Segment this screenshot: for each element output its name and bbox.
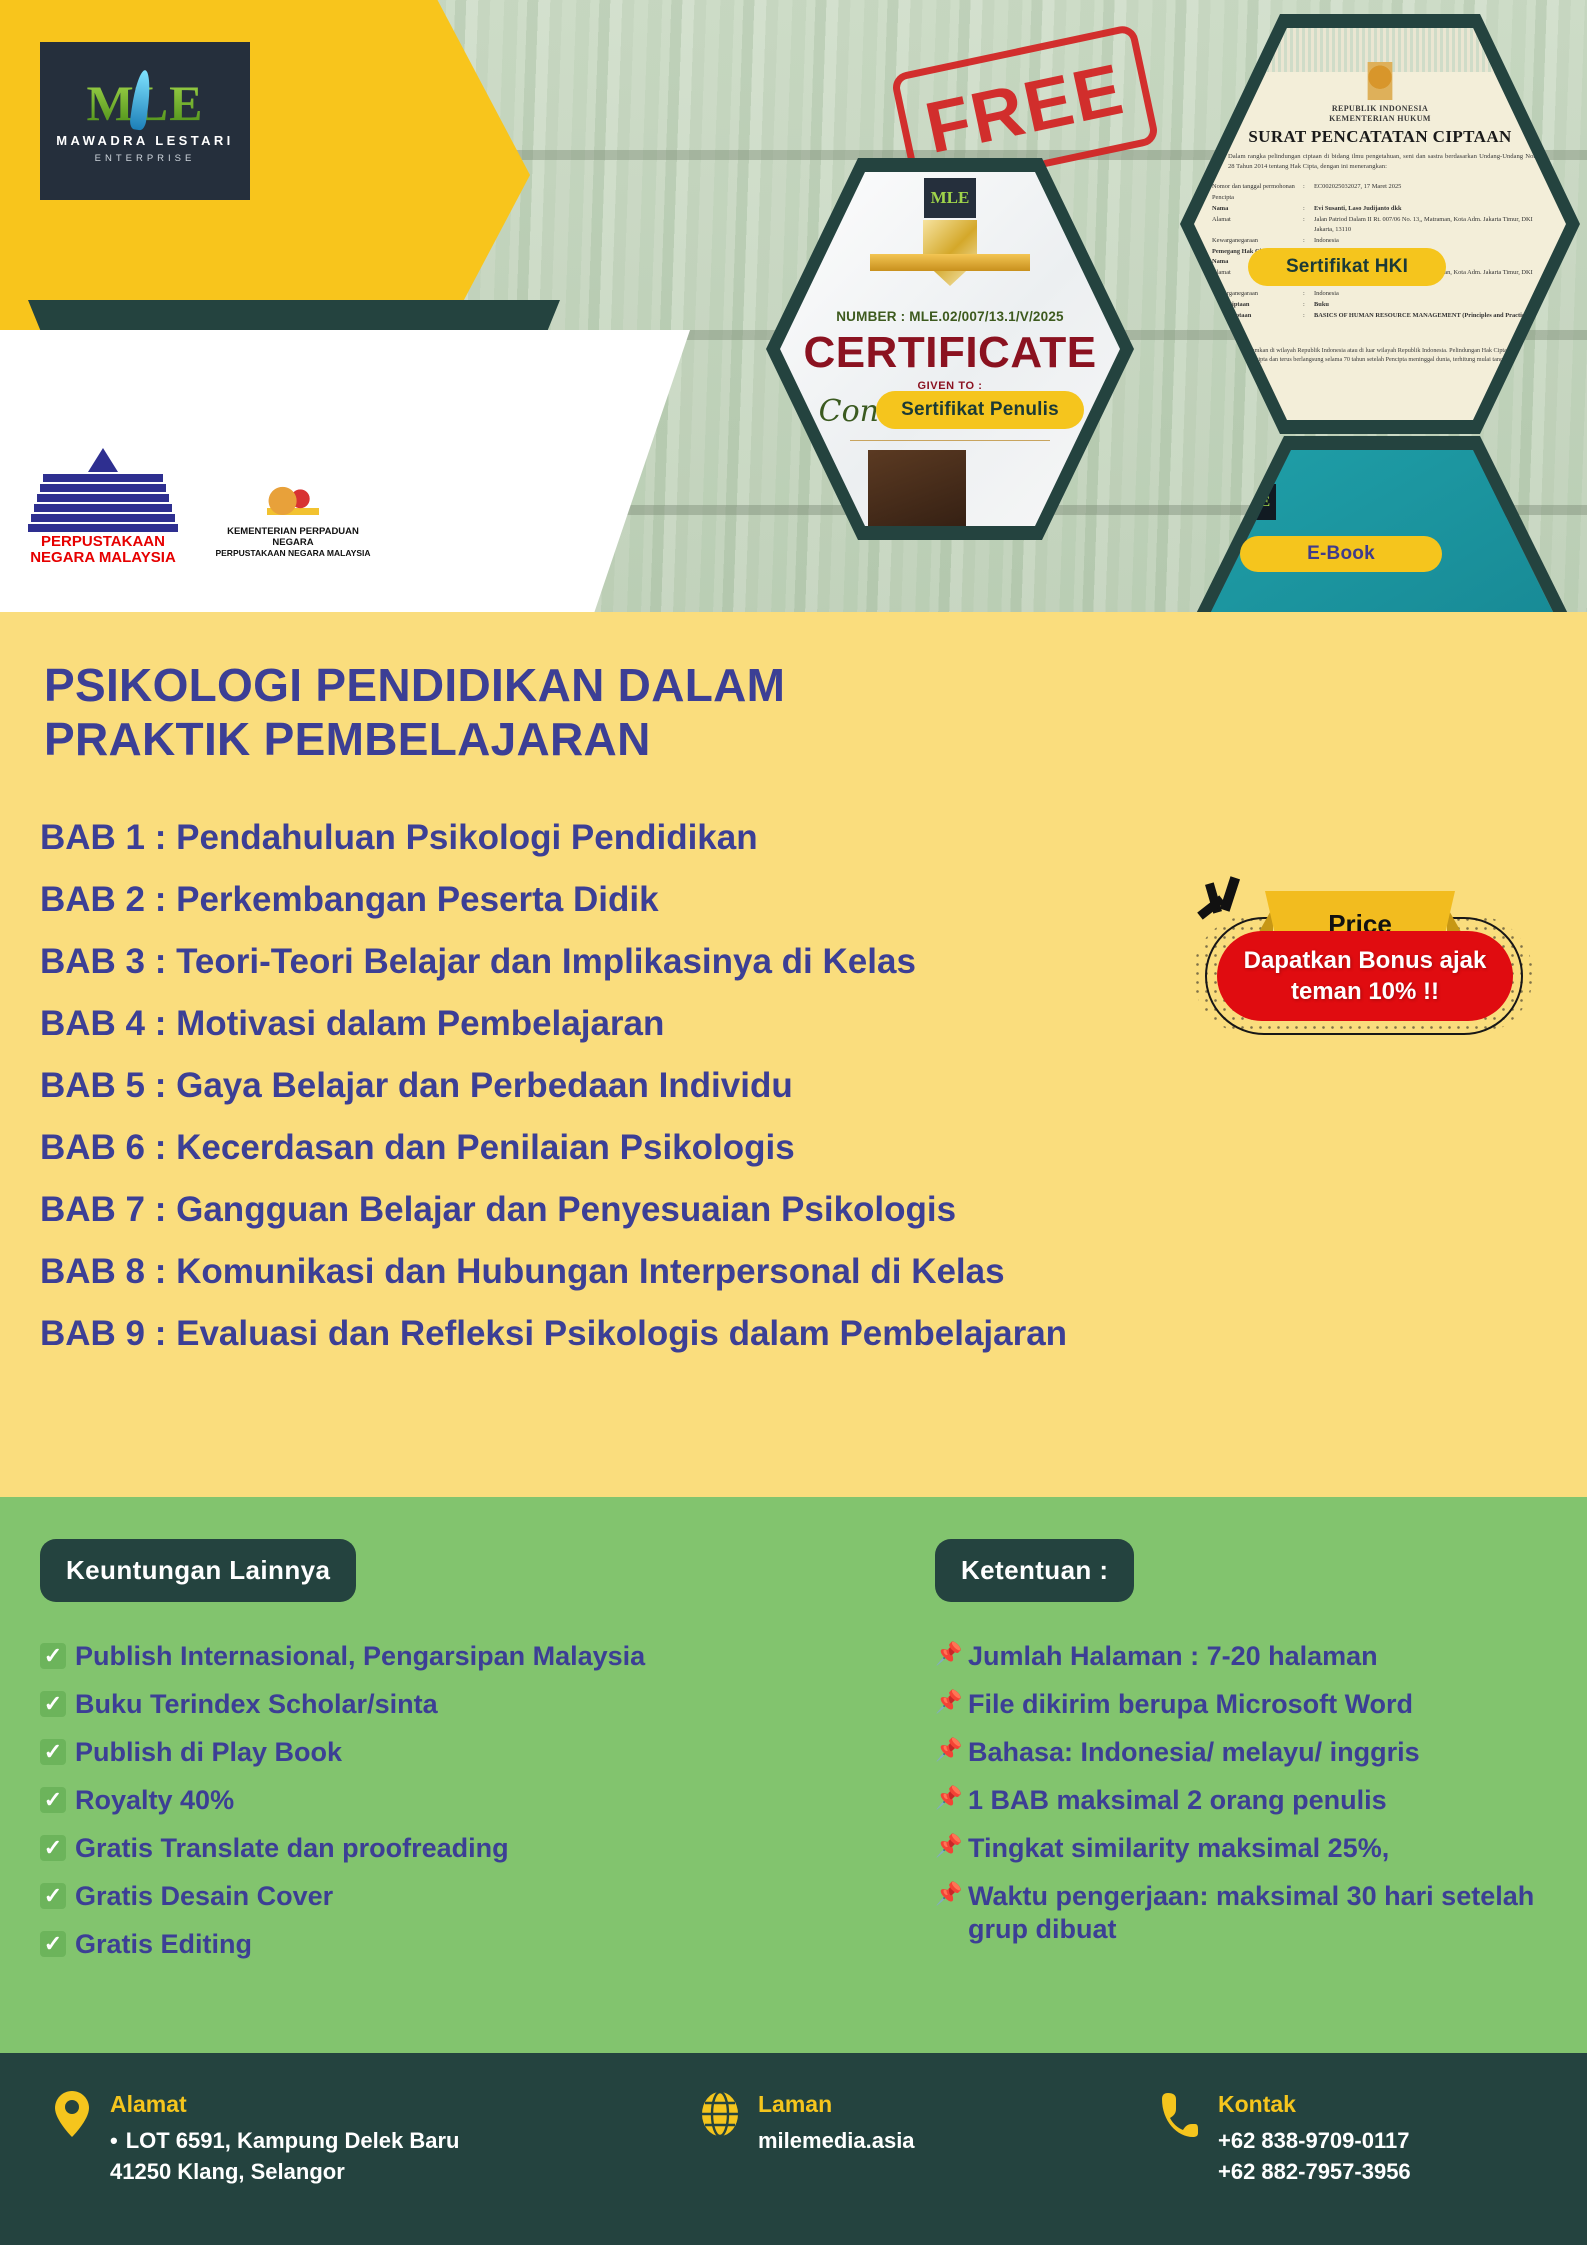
hki-row-colon: : — [1303, 236, 1309, 246]
benefit-label: Gratis Editing — [75, 1928, 252, 1961]
benefit-label: Royalty 40% — [75, 1784, 234, 1817]
hki-certificate-card: REPUBLIK INDONESIA KEMENTERIAN HUKUM SUR… — [1180, 14, 1580, 434]
hki-row: Kewarganegaraan:Indonesia — [1212, 236, 1550, 246]
benefit-label: Publish Internasional, Pengarsipan Malay… — [75, 1640, 645, 1673]
hki-row: Nama:Evi Susanti, Laso Judijanto dkk — [1212, 204, 1550, 214]
hki-row-key: Alamat — [1212, 215, 1298, 235]
kementerian-label-1: KEMENTERIAN PERPADUAN NEGARA — [213, 527, 373, 549]
hki-row-colon: : — [1303, 300, 1309, 310]
term-label: File dikirim berupa Microsoft Word — [968, 1688, 1413, 1721]
badge-sertifikat-penulis[interactable]: Sertifikat Penulis — [876, 391, 1084, 429]
kementerian-logo: KEMENTERIAN PERPADUAN NEGARA PERPUSTAKAA… — [208, 476, 378, 566]
term-item: 📌Tingkat similarity maksimal 25%, — [935, 1832, 1555, 1865]
benefit-item: ✓Gratis Desain Cover — [40, 1880, 870, 1913]
ribbon-icon — [870, 254, 1030, 271]
perpustakaan-label: PERPUSTAKAAN NEGARA MALAYSIA — [28, 534, 178, 566]
price-bonus-text: Dapatkan Bonus ajak teman 10% !! — [1217, 931, 1513, 1021]
benefit-label: Buku Terindex Scholar/sinta — [75, 1688, 438, 1721]
contact-heading: Kontak — [1218, 2091, 1411, 2118]
address-line-1: •LOT 6591, Kampung Delek Baru — [110, 2126, 459, 2157]
perpustakaan-negara-logo: PERPUSTAKAAN NEGARA MALAYSIA — [28, 448, 178, 566]
poster-canvas: MLE MAWADRA LESTARI ENTERPRISE PERPUSTAK… — [0, 0, 1587, 2245]
contact-phone-2[interactable]: +62 882-7957-3956 — [1218, 2157, 1411, 2188]
term-label: Jumlah Halaman : 7-20 halaman — [968, 1640, 1378, 1673]
hki-republic: REPUBLIK INDONESIA KEMENTERIAN HUKUM — [1194, 104, 1566, 125]
logo-mark-text: MLE — [87, 78, 204, 128]
badge-ebook[interactable]: E-Book — [1240, 536, 1442, 572]
info-panel: Keuntungan Lainnya ✓Publish Internasiona… — [0, 1497, 1587, 2053]
check-icon: ✓ — [40, 1787, 66, 1813]
check-icon: ✓ — [40, 1835, 66, 1861]
hki-row: Alamat:Jalan Patriod Dalam II Rt. 007/06… — [1212, 215, 1550, 235]
hki-row-colon — [1303, 193, 1309, 203]
pushpin-icon: 📌 — [935, 1787, 959, 1809]
hki-row-key: Pencipta — [1212, 193, 1298, 203]
hki-row-value: Jalan Patriod Dalam II Rt. 007/06 No. 13… — [1314, 215, 1550, 235]
term-item: 📌1 BAB maksimal 2 orang penulis — [935, 1784, 1555, 1817]
logo-company-name: MAWADRA LESTARI — [56, 133, 233, 148]
chapter-item: BAB 7 : Gangguan Belajar dan Penyesuaian… — [40, 1192, 1520, 1227]
chapter-item: BAB 8 : Komunikasi dan Hubungan Interper… — [40, 1254, 1520, 1289]
pushpin-icon: 📌 — [935, 1883, 959, 1905]
hki-row: Jenis Ciptaan:Buku — [1212, 300, 1550, 310]
hki-row-value: Indonesia — [1314, 236, 1550, 246]
page-title: PSIKOLOGI PENDIDIKAN DALAM PRAKTIK PEMBE… — [44, 658, 1044, 767]
hki-row-key: Nomor dan tanggal permohonan — [1212, 182, 1298, 192]
term-label: 1 BAB maksimal 2 orang penulis — [968, 1784, 1387, 1817]
hki-row-colon: : — [1303, 182, 1309, 192]
web-heading: Laman — [758, 2091, 915, 2118]
malaysia-crest-icon — [267, 482, 319, 524]
address-line-2: 41250 Klang, Selangor — [110, 2157, 459, 2188]
benefits-heading: Keuntungan Lainnya — [40, 1539, 356, 1602]
hki-row-value — [1314, 193, 1550, 203]
hki-row: Nomor dan tanggal permohonan:EC002025032… — [1212, 182, 1550, 192]
benefit-label: Gratis Desain Cover — [75, 1880, 333, 1913]
hki-row-value: EC002025032027, 17 Maret 2025 — [1314, 182, 1550, 192]
benefit-item: ✓Publish di Play Book — [40, 1736, 870, 1769]
footer-web-block: Laman milemedia.asia — [700, 2091, 915, 2157]
check-icon: ✓ — [40, 1739, 66, 1765]
benefit-item: ✓Publish Internasional, Pengarsipan Mala… — [40, 1640, 870, 1673]
check-icon: ✓ — [40, 1691, 66, 1717]
certificate-card: MLE NUMBER : MLE.02/007/13.1/V/2025 CERT… — [766, 158, 1134, 540]
phone-icon — [1160, 2091, 1200, 2139]
term-item: 📌Jumlah Halaman : 7-20 halaman — [935, 1640, 1555, 1673]
hki-row: Judul Ciptaan:BASICS OF HUMAN RESOURCE M… — [1212, 311, 1550, 321]
check-icon: ✓ — [40, 1883, 66, 1909]
hki-row-colon: : — [1303, 311, 1309, 321]
pushpin-icon: 📌 — [935, 1739, 959, 1761]
check-icon: ✓ — [40, 1931, 66, 1957]
accreditation-logos: PERPUSTAKAAN NEGARA MALAYSIA KEMENTERIAN… — [28, 448, 378, 566]
contact-footer: Alamat •LOT 6591, Kampung Delek Baru 412… — [0, 2053, 1587, 2245]
hki-row-key: Nama — [1212, 204, 1298, 214]
benefit-item: ✓Royalty 40% — [40, 1784, 870, 1817]
location-pin-icon — [52, 2091, 92, 2139]
benefit-item: ✓Gratis Translate dan proofreading — [40, 1832, 870, 1865]
kementerian-label-2: PERPUSTAKAAN NEGARA MALAYSIA — [213, 549, 373, 559]
certificate-logo: MLE — [924, 178, 976, 218]
benefit-item: ✓Gratis Editing — [40, 1928, 870, 1961]
hki-row-value: Evi Susanti, Laso Judijanto dkk — [1314, 204, 1550, 214]
chapter-item: BAB 9 : Evaluasi dan Refleksi Psikologis… — [40, 1316, 1520, 1351]
certificate-book-thumb — [868, 450, 966, 526]
hki-intro: Dalam rangka pelindungan ciptaan di bida… — [1228, 152, 1544, 171]
terms-column: Ketentuan : 📌Jumlah Halaman : 7-20 halam… — [935, 1539, 1555, 1961]
term-item: 📌File dikirim berupa Microsoft Word — [935, 1688, 1555, 1721]
address-heading: Alamat — [110, 2091, 459, 2118]
hki-row-colon: : — [1303, 215, 1309, 235]
check-icon: ✓ — [40, 1643, 66, 1669]
footer-contact-block: Kontak +62 838-9709-0117 +62 882-7957-39… — [1160, 2091, 1411, 2188]
benefit-label: Gratis Translate dan proofreading — [75, 1832, 509, 1865]
logo-company-sub: ENTERPRISE — [95, 153, 196, 164]
chapter-item: BAB 1 : Pendahuluan Psikologi Pendidikan — [40, 820, 1520, 855]
hki-row-value: Indonesia — [1314, 289, 1550, 299]
hki-title: SURAT PENCATATAN CIPTAAN — [1194, 127, 1566, 147]
badge-sertifikat-hki[interactable]: Sertifikat HKI — [1248, 248, 1446, 286]
pyramid-icon — [28, 448, 178, 534]
hki-row-colon: : — [1303, 204, 1309, 214]
pushpin-icon: 📌 — [935, 1691, 959, 1713]
brand-logo: MLE MAWADRA LESTARI ENTERPRISE — [40, 42, 250, 200]
benefits-list: ✓Publish Internasional, Pengarsipan Mala… — [40, 1640, 870, 1961]
hki-row-value: Buku — [1314, 300, 1550, 310]
hki-row: Pencipta — [1212, 193, 1550, 203]
footer-address-block: Alamat •LOT 6591, Kampung Delek Baru 412… — [52, 2091, 459, 2188]
hki-row: Kewarganegaraan:Indonesia — [1212, 289, 1550, 299]
hki-row-value: BASICS OF HUMAN RESOURCE MANAGEMENT (Pri… — [1314, 311, 1550, 321]
contact-phone-1[interactable]: +62 838-9709-0117 — [1218, 2126, 1411, 2157]
terms-heading: Ketentuan : — [935, 1539, 1134, 1602]
terms-list: 📌Jumlah Halaman : 7-20 halaman📌File diki… — [935, 1640, 1555, 1946]
pushpin-icon: 📌 — [935, 1643, 959, 1665]
benefit-label: Publish di Play Book — [75, 1736, 342, 1769]
term-label: Bahasa: Indonesia/ melayu/ inggris — [968, 1736, 1420, 1769]
certificate-heading: CERTIFICATE — [780, 328, 1120, 378]
term-label: Waktu pengerjaan: maksimal 30 hari setel… — [968, 1880, 1555, 1946]
pushpin-icon: 📌 — [935, 1835, 959, 1857]
term-item: 📌Waktu pengerjaan: maksimal 30 hari sete… — [935, 1880, 1555, 1946]
benefit-item: ✓Buku Terindex Scholar/sinta — [40, 1688, 870, 1721]
benefits-column: Keuntungan Lainnya ✓Publish Internasiona… — [40, 1539, 870, 1976]
hki-row-colon: : — [1303, 289, 1309, 299]
certificate-number: NUMBER : MLE.02/007/13.1/V/2025 — [780, 309, 1120, 324]
chapter-item: BAB 6 : Kecerdasan dan Penilaian Psikolo… — [40, 1130, 1520, 1165]
term-item: 📌Bahasa: Indonesia/ melayu/ inggris — [935, 1736, 1555, 1769]
globe-icon — [700, 2091, 740, 2139]
term-label: Tingkat similarity maksimal 25%, — [968, 1832, 1389, 1865]
web-value[interactable]: milemedia.asia — [758, 2126, 915, 2157]
price-badge[interactable]: Price Dapatkan Bonus ajak teman 10% !! — [1175, 875, 1555, 1075]
burst-lines-icon — [1197, 877, 1259, 927]
garuda-emblem-icon — [1360, 62, 1400, 100]
hki-row-key: Kewarganegaraan — [1212, 236, 1298, 246]
